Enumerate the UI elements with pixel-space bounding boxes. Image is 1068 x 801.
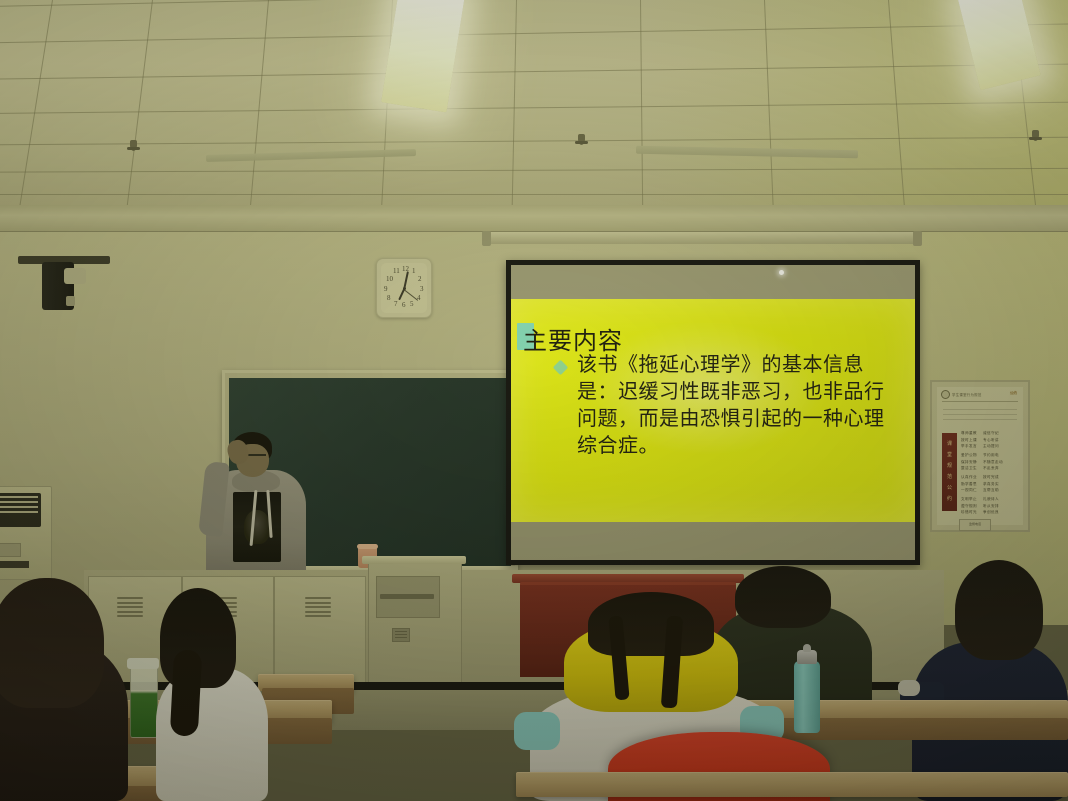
air-conditioner-unit <box>0 486 52 580</box>
poster-cell: 遵守规则 <box>961 504 977 509</box>
poster-cell: 不乱丢弃 <box>983 466 999 471</box>
poster-band-char: 堂 <box>947 453 952 458</box>
poster-row: 尊师重教 诚信守纪 <box>961 431 1019 436</box>
poster-cell: 互帮互助 <box>983 488 999 493</box>
poster-cell: 主动提问 <box>983 444 999 449</box>
poster-cell: 整洁卫生 <box>961 466 977 471</box>
clock-numeral: 7 <box>394 301 398 308</box>
screen-bottom-margin <box>511 522 915 560</box>
poster-seal-icon <box>941 390 950 399</box>
navy-student-cuff <box>898 680 920 696</box>
poster-row: 爱护公物 节约用电 <box>961 453 1019 458</box>
poster-cell: 听从安排 <box>983 504 999 509</box>
yellow-student-hair <box>588 592 714 656</box>
poster-cell: 认真作业 <box>961 475 977 480</box>
poster-divider <box>942 401 1018 402</box>
poster-cell: 节约用电 <box>983 453 999 458</box>
clock-numeral: 11 <box>393 268 400 275</box>
poster-band-char: 规 <box>947 464 952 469</box>
poster-cell: 礼貌待人 <box>983 497 999 502</box>
poster-footer-box: 监督电话 <box>959 519 991 531</box>
bottle-cap-icon <box>797 650 817 664</box>
screen-top-margin <box>511 265 915 299</box>
navy-student-hair <box>955 560 1043 660</box>
podium-top-surface <box>362 556 466 564</box>
ac-grill-icon <box>0 561 29 568</box>
poster-cell: 勤学善思 <box>961 482 977 487</box>
teal-cuff-left <box>514 712 560 750</box>
camera-lens-icon <box>64 268 86 284</box>
ceiling-grid-line <box>19 0 54 210</box>
poster-cell: 不随意走动 <box>983 460 1003 465</box>
sprinkler-head <box>578 134 585 145</box>
poster-cell: 诚信守纪 <box>983 431 999 436</box>
poster-cell: 专心听讲 <box>983 438 999 443</box>
wall-poster: 学生课堂行为规范 公约 课 堂 规 范 公 约 尊师重教 诚信守纪 <box>930 380 1030 532</box>
clock-numeral: 3 <box>420 286 424 293</box>
projector-screen-roller <box>488 232 918 244</box>
green-drink-cup <box>130 664 158 738</box>
poster-group: 认真作业 按时完成 勤学善思 求真务实 一视同仁 互帮互助 <box>961 475 1019 493</box>
poster-text-grid: 尊师重教 诚信守纪 按时上课 专心听讲 举手发言 主动提问 爱护公物 <box>961 431 1019 517</box>
clock-numeral: 9 <box>384 286 388 293</box>
wall-ceiling-beam <box>0 205 1068 232</box>
water-bottle <box>794 661 820 733</box>
cup-lid-icon <box>127 658 159 669</box>
poster-row: 珍惜时光 争创优良 <box>961 510 1019 515</box>
poster-cell: 争创优良 <box>983 510 999 515</box>
poster-cell: 举手发言 <box>961 444 977 449</box>
poster-band-char: 公 <box>947 486 952 491</box>
projector-screen: 主要内容 该书《拖延心理学》的基本信息是：迟缓习性既非恶习，也非品行问题，而是由… <box>506 260 920 565</box>
poster-cell: 保持安静 <box>961 460 977 465</box>
clock-numeral: 8 <box>387 295 391 302</box>
ceiling <box>0 0 1068 212</box>
ceiling-grid-line <box>512 0 518 212</box>
podium-vent-icon <box>392 628 410 642</box>
clock-numeral: 1 <box>412 268 416 275</box>
poster-row: 文明举止 礼貌待人 <box>961 497 1019 502</box>
poster-sheet: 学生课堂行为规范 公约 课 堂 规 范 公 约 尊师重教 诚信守纪 <box>937 387 1023 525</box>
poster-row: 遵守规则 听从安排 <box>961 504 1019 509</box>
wall-clock: 12 1 2 3 4 5 6 7 8 9 10 11 <box>376 258 432 318</box>
poster-group: 爱护公物 节约用电 保持安静 不随意走动 整洁卫生 不乱丢弃 <box>961 453 1019 471</box>
dark-student-hair <box>0 578 104 708</box>
poster-header-text: 学生课堂行为规范 <box>952 392 982 397</box>
projected-slide: 主要内容 该书《拖延心理学》的基本信息是：迟缓习性既非恶习，也非品行问题，而是由… <box>511 299 915 522</box>
clock-numeral: 5 <box>410 301 414 308</box>
poster-cell: 珍惜时光 <box>961 510 977 515</box>
poster-group: 尊师重教 诚信守纪 按时上课 专心听讲 举手发言 主动提问 <box>961 431 1019 449</box>
poster-row: 一视同仁 互帮互助 <box>961 488 1019 493</box>
ac-vent-icon <box>0 493 41 527</box>
diamond-bullet-icon <box>553 360 569 376</box>
poster-row: 认真作业 按时完成 <box>961 475 1019 480</box>
poster-cell: 一视同仁 <box>961 488 977 493</box>
olive-student-hair <box>735 566 831 628</box>
presenter-hoodie-graphic <box>233 492 281 562</box>
poster-cell: 按时上课 <box>961 438 977 443</box>
podium-slot <box>380 594 434 599</box>
poster-row: 举手发言 主动提问 <box>961 444 1019 449</box>
sprinkler-head <box>130 140 137 151</box>
poster-band-char: 约 <box>947 497 952 502</box>
bottle-knob-icon <box>803 644 811 652</box>
poster-band-char: 范 <box>947 475 952 480</box>
ceiling-grid-line <box>126 0 153 211</box>
ponytail <box>170 649 202 736</box>
poster-row: 勤学善思 求真务实 <box>961 482 1019 487</box>
cabinet-divider <box>273 577 275 687</box>
poster-band-char: 课 <box>947 442 952 447</box>
poster-cell: 按时完成 <box>983 475 999 480</box>
poster-footer-text: 监督电话 <box>960 520 990 528</box>
slide-body-text: 该书《拖延心理学》的基本信息是：迟缓习性既非恶习，也非品行问题，而是由恐惧引起的… <box>577 351 889 459</box>
poster-header: 学生课堂行为规范 公约 <box>941 390 1019 399</box>
classroom-photo: 12 1 2 3 4 5 6 7 8 9 10 11 <box>0 0 1068 801</box>
clock-numeral: 6 <box>402 302 406 309</box>
poster-cell: 尊师重教 <box>961 431 977 436</box>
poster-cell: 文明举止 <box>961 497 977 502</box>
ceiling-light-fixture <box>381 0 465 112</box>
clock-center-pin <box>403 287 406 290</box>
desk-row-front <box>516 772 1068 797</box>
clock-numeral: 10 <box>386 276 393 283</box>
poster-row: 整洁卫生 不乱丢弃 <box>961 466 1019 471</box>
poster-title-band: 课 堂 规 范 公 约 <box>942 433 957 511</box>
projector-screen-surface: 主要内容 该书《拖延心理学》的基本信息是：迟缓习性既非恶习，也非品行问题，而是由… <box>511 265 915 560</box>
cabinet-vent-icon <box>117 597 143 623</box>
sprinkler-head <box>1032 130 1039 141</box>
clock-numeral: 2 <box>418 276 422 283</box>
ac-panel-icon <box>0 543 21 557</box>
poster-cell: 爱护公物 <box>961 453 977 458</box>
poster-row: 保持安静 不随意走动 <box>961 460 1019 465</box>
camera-indicator-icon <box>66 296 75 306</box>
desk-front-panel <box>742 718 1068 740</box>
poster-row: 按时上课 专心听讲 <box>961 438 1019 443</box>
poster-subline <box>943 414 1017 415</box>
cabinet-vent-icon <box>305 597 331 623</box>
poster-subline <box>943 409 1017 410</box>
roller-end-cap <box>482 231 491 246</box>
ceiling-grid-line <box>0 194 1068 195</box>
poster-cell: 求真务实 <box>983 482 999 487</box>
poster-group: 文明举止 礼貌待人 遵守规则 听从安排 珍惜时光 争创优良 <box>961 497 1019 515</box>
roller-end-cap <box>913 231 922 246</box>
clock-face: 12 1 2 3 4 5 6 7 8 9 10 11 <box>381 263 427 313</box>
ceiling-grid-line <box>250 0 270 211</box>
projector-highlight-dot <box>779 270 784 275</box>
poster-subline <box>943 419 1017 420</box>
poster-header-badge: 公约 <box>1010 391 1017 396</box>
